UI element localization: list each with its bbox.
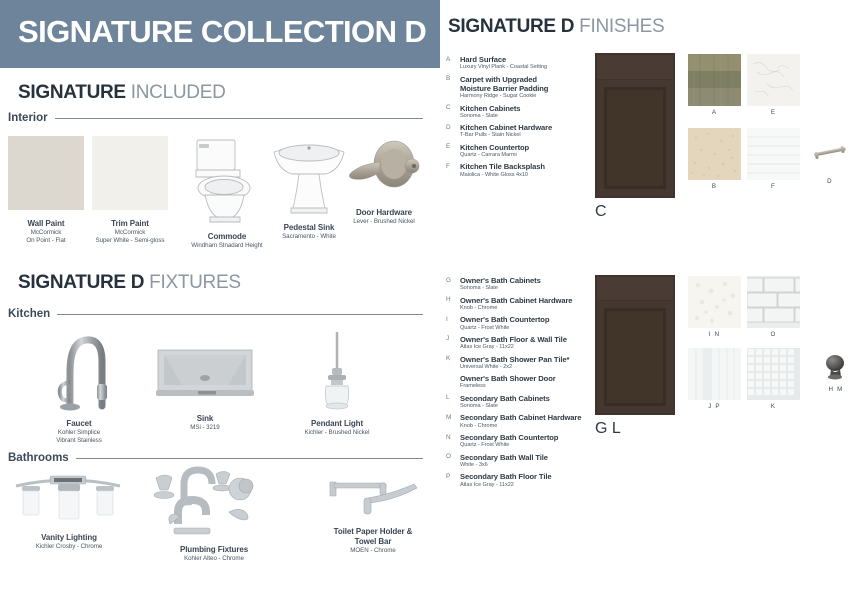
tile-label: E xyxy=(747,109,800,116)
atlas-ice-gray-icon xyxy=(688,348,741,400)
finish-row: HOwner's Bath Cabinet HardwareKnob - Chr… xyxy=(446,296,618,312)
finish-desc: Atlas Ice Gray - 11x22 xyxy=(460,482,618,489)
heading-bold: SIGNATURE xyxy=(18,82,126,103)
vinyl-plank-icon xyxy=(688,54,741,106)
finish-letter: J xyxy=(446,335,449,342)
collection-title: SIGNATURE COLLECTION D xyxy=(18,14,426,50)
t-bar-pull-icon xyxy=(810,140,850,176)
heading-light: FINISHES xyxy=(579,16,664,37)
tile-label: F xyxy=(747,183,800,190)
item-door-hardware: Door Hardware Lever - Brushed Nickel xyxy=(332,136,436,226)
finish-row: NSecondary Bath CountertopQuartz - Frost… xyxy=(446,433,618,449)
item-name: Faucet xyxy=(24,419,134,429)
section-heading-fixtures: SIGNATURE D FIXTURES xyxy=(18,272,241,294)
right-column: SIGNATURE D FINISHES AHard SurfaceLuxury… xyxy=(440,0,853,569)
collection-banner: SIGNATURE COLLECTION D xyxy=(0,0,440,68)
item-name: Trim Paint xyxy=(92,219,168,229)
item-sub: McCormick On Point - Flat xyxy=(8,229,84,245)
finish-letter: C xyxy=(446,104,451,111)
vanity-light-icon xyxy=(8,470,130,524)
tile-label: I N xyxy=(688,331,741,338)
tile-shower-pan: K xyxy=(747,348,800,400)
item-kitchen-sink: Sink MSi - 3219 xyxy=(150,346,260,432)
item-sub: Kohler Alteo - Chrome xyxy=(134,555,294,563)
finish-name: Secondary Bath Floor Tile xyxy=(460,472,618,481)
cabinet-knob-icon xyxy=(818,352,853,384)
finish-row: IOwner's Bath CountertopQuartz - Frost W… xyxy=(446,315,618,331)
item-sub: MOEN - Chrome xyxy=(310,547,436,555)
finish-letter: H xyxy=(446,296,451,303)
finish-row: OSecondary Bath Wall TileWhite - 3x6 xyxy=(446,453,618,469)
tile-label: B xyxy=(688,183,741,190)
tile-label: H M xyxy=(818,386,853,393)
finish-row: MSecondary Bath Cabinet HardwareKnob - C… xyxy=(446,413,618,429)
finishes-heading: SIGNATURE D FINISHES xyxy=(448,16,664,38)
tile-label: C xyxy=(595,203,675,221)
door-lever-icon xyxy=(332,136,436,198)
subhead-label: Bathrooms xyxy=(8,452,69,464)
tile-bath-floor: J P xyxy=(688,348,741,400)
left-column: SIGNATURE COLLECTION D SIGNATURE INCLUDE… xyxy=(0,0,440,569)
item-name: Pendant Light xyxy=(282,419,392,429)
towel-bar-icon xyxy=(310,470,436,520)
finish-letter: F xyxy=(446,163,450,170)
finish-letter: M xyxy=(446,414,451,421)
finish-letter: A xyxy=(446,56,450,63)
tile-bath-countertop: I N xyxy=(688,276,741,328)
tile-label: J P xyxy=(688,403,741,410)
heading-light: INCLUDED xyxy=(131,82,226,103)
item-wall-paint: Wall Paint McCormick On Point - Flat xyxy=(8,136,84,245)
shower-pan-mosaic-icon xyxy=(747,348,800,400)
finish-row: Owner's Bath Shower DoorFrameless xyxy=(446,374,618,390)
finish-row: BCarpet with Upgraded Moisture Barrier P… xyxy=(446,75,618,100)
tile-secondary-wall: O xyxy=(747,276,800,328)
tile-label: G L xyxy=(595,420,675,438)
subhead-label: Kitchen xyxy=(8,308,50,320)
item-name: Toilet Paper Holder & Towel Bar xyxy=(310,527,436,547)
item-sub: MSi - 3219 xyxy=(150,424,260,432)
divider-rule xyxy=(55,118,423,119)
item-sub: McCormick Super White - Semi-gloss xyxy=(92,229,168,245)
item-name: Door Hardware xyxy=(332,208,436,218)
cabinet-door-icon xyxy=(595,53,675,198)
wall-paint-swatch xyxy=(8,136,84,210)
subhead-interior: Interior xyxy=(8,112,423,124)
item-sub: Lever - Brushed Nickel xyxy=(332,218,436,226)
item-vanity-lighting: Vanity Lighting Kichler Crosby - Chrome xyxy=(8,470,130,551)
heading-light: FIXTURES xyxy=(149,272,241,293)
item-name: Vanity Lighting xyxy=(8,533,130,543)
finish-row: AHard SurfaceLuxury Vinyl Plank - Coasta… xyxy=(446,55,618,71)
tile-kitchen-countertop: E xyxy=(747,54,800,106)
finish-letter: L xyxy=(446,394,450,401)
section-heading-included: SIGNATURE INCLUDED xyxy=(18,82,226,104)
item-kitchen-faucet: Faucet Kohler Simplice Vibrant Stainless xyxy=(24,326,134,445)
finish-row: JOwner's Bath Floor & Wall TileAtlas Ice… xyxy=(446,335,618,351)
subhead-label: Interior xyxy=(8,112,48,124)
bath-cabinet-door-icon xyxy=(595,275,675,415)
finish-row: DKitchen Cabinet HardwareT-Bar Pulls - S… xyxy=(446,123,618,139)
item-towel-bar: Toilet Paper Holder & Towel Bar MOEN - C… xyxy=(310,470,436,555)
item-name: Wall Paint xyxy=(8,219,84,229)
finish-letter: N xyxy=(446,434,451,441)
pendant-light-icon xyxy=(282,330,392,412)
finish-letter: E xyxy=(446,143,450,150)
finish-row: PSecondary Bath Floor TileAtlas Ice Gray… xyxy=(446,472,618,488)
finish-letter: P xyxy=(446,473,450,480)
kitchen-sink-icon xyxy=(150,346,260,404)
brochure-page: SIGNATURE COLLECTION D SIGNATURE INCLUDE… xyxy=(0,0,853,569)
tile-kitchen-cabinet-door: C xyxy=(595,53,675,198)
heading-bold: SIGNATURE D xyxy=(18,272,144,293)
quartz-frost-white-icon xyxy=(688,276,741,328)
tile-label: O xyxy=(747,331,800,338)
tile-carpet: B xyxy=(688,128,741,180)
trim-paint-swatch xyxy=(92,136,168,210)
finish-row: EKitchen CountertopQuartz - Carrara Marm… xyxy=(446,143,618,159)
finish-name: Secondary Bath Wall Tile xyxy=(460,453,618,462)
carpet-icon xyxy=(688,128,741,180)
item-sub: Kohler Simplice Vibrant Stainless xyxy=(24,429,134,445)
finishes-list-top: AHard SurfaceLuxury Vinyl Plank - Coasta… xyxy=(446,55,618,182)
tile-label: D xyxy=(810,178,850,185)
finish-row: FKitchen Tile BacksplashMaiolica - White… xyxy=(446,162,618,178)
finish-row: LSecondary Bath CabinetsSonoma - Slate xyxy=(446,394,618,410)
backsplash-tile-icon xyxy=(747,128,800,180)
tile-cabinet-pull: D xyxy=(810,140,850,176)
subway-tile-icon xyxy=(747,276,800,328)
divider-rule xyxy=(57,314,423,315)
item-sub: Kichler - Brushed Nickel xyxy=(282,429,392,437)
finishes-list-bottom: GOwner's Bath CabinetsSonoma - SlateHOwn… xyxy=(446,276,618,492)
tile-hard-surface: A xyxy=(688,54,741,106)
item-pendant-light: Pendant Light Kichler - Brushed Nickel xyxy=(282,330,392,437)
item-sub: Windham Stnadard Height xyxy=(172,242,282,250)
subhead-kitchen: Kitchen xyxy=(8,308,423,320)
item-name: Plumbing Fixtures xyxy=(134,545,294,555)
finish-row: KOwner's Bath Shower Pan Tile*Universal … xyxy=(446,355,618,371)
tile-label: K xyxy=(747,403,800,410)
plumbing-fixtures-icon xyxy=(134,462,294,540)
finish-letter: B xyxy=(446,75,450,82)
item-sub: Sacramento - White xyxy=(254,233,364,241)
item-name: Sink xyxy=(150,414,260,424)
finish-row: GOwner's Bath CabinetsSonoma - Slate xyxy=(446,276,618,292)
finish-row: CKitchen CabinetsSonoma - Slate xyxy=(446,104,618,120)
finish-letter: I xyxy=(446,316,448,323)
quartz-carrara-icon xyxy=(747,54,800,106)
finish-letter: G xyxy=(446,277,451,284)
finish-letter: O xyxy=(446,453,451,460)
kitchen-faucet-icon xyxy=(24,326,134,412)
tile-cabinet-knob: H M xyxy=(818,352,853,384)
tile-bath-cabinet-door: G L xyxy=(595,275,675,415)
finish-letter: K xyxy=(446,355,450,362)
item-sub: Kichler Crosby - Chrome xyxy=(8,543,130,551)
tile-backsplash: F xyxy=(747,128,800,180)
finish-desc: White - 3x6 xyxy=(460,462,618,469)
item-plumbing-fixtures: Plumbing Fixtures Kohler Alteo - Chrome xyxy=(134,462,294,563)
item-trim-paint: Trim Paint McCormick Super White - Semi-… xyxy=(92,136,168,245)
divider-rule xyxy=(76,458,423,459)
tile-label: A xyxy=(688,109,741,116)
heading-bold: SIGNATURE D xyxy=(448,16,574,37)
finish-desc: Quartz - Frost White xyxy=(460,442,618,449)
finish-letter: D xyxy=(446,124,451,131)
